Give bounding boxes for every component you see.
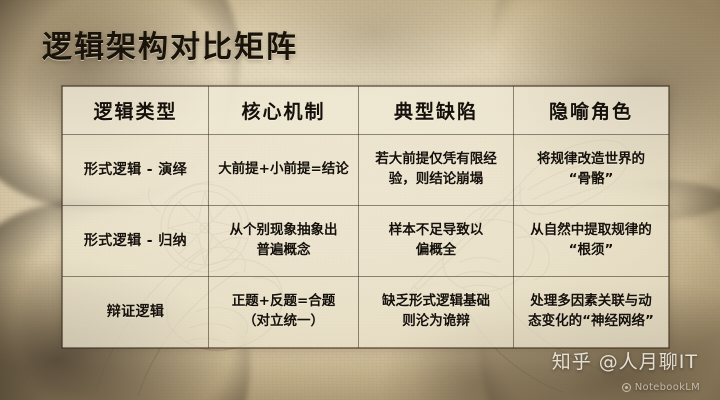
column-header-defect: 典型缺陷 — [359, 87, 514, 135]
cell-line: 大前提+小前提=结论 — [215, 160, 352, 180]
notebooklm-label: NotebookLM — [635, 382, 700, 393]
cell-line: 样本不足导致以 — [365, 221, 507, 241]
cell-defect: 样本不足导致以 偏概全 — [359, 206, 514, 277]
cell-line: “根须” — [520, 241, 662, 261]
notebooklm-badge: NotebookLM — [622, 382, 700, 393]
matrix-body: 形式逻辑 - 演绎 大前提+小前提=结论 若大前提仅凭有限经 验，则结论崩塌 将… — [63, 135, 669, 348]
table-row: 形式逻辑 - 归纳 从个别现象抽象出 普遍概念 样本不足导致以 偏概全 从自然中… — [63, 206, 669, 277]
matrix-header: 逻辑类型 核心机制 典型缺陷 隐喻角色 — [63, 87, 669, 135]
cell-metaphor: 将规律改造世界的 “骨骼” — [514, 135, 669, 206]
cell-logic-type: 形式逻辑 - 演绎 — [63, 135, 209, 206]
cell-line: 普遍概念 — [215, 241, 352, 261]
screenshot-canvas: 逻辑架构对比矩阵 逻辑类型 核心机制 典型缺陷 隐喻角色 形式逻辑 - 演绎 大… — [0, 0, 720, 400]
zhihu-watermark: 知乎 @人月聊IT — [552, 347, 698, 374]
cell-line: 处理多因素关联与动 — [520, 292, 662, 312]
cell-mechanism: 从个别现象抽象出 普遍概念 — [209, 206, 359, 277]
cell-line: 若大前提仅凭有限经 — [365, 150, 507, 170]
cell-logic-type: 形式逻辑 - 归纳 — [63, 206, 209, 277]
cell-mechanism: 大前提+小前提=结论 — [209, 135, 359, 206]
page-title: 逻辑架构对比矩阵 — [42, 22, 298, 66]
cell-line: 从自然中提取规律的 — [520, 221, 662, 241]
cell-logic-type: 辩证逻辑 — [63, 277, 209, 348]
notebooklm-logo-icon — [622, 383, 631, 392]
cell-defect: 缺乏形式逻辑基础 则沦为诡辩 — [359, 277, 514, 348]
cell-line: 偏概全 — [365, 241, 507, 261]
cell-line: 从个别现象抽象出 — [215, 221, 352, 241]
cell-line: （对立统一） — [215, 312, 352, 332]
cell-line: 缺乏形式逻辑基础 — [365, 292, 507, 312]
logic-comparison-matrix: 逻辑类型 核心机制 典型缺陷 隐喻角色 形式逻辑 - 演绎 大前提+小前提=结论… — [62, 86, 669, 348]
column-header-metaphor: 隐喻角色 — [514, 87, 669, 135]
cell-metaphor: 从自然中提取规律的 “根须” — [514, 206, 669, 277]
cell-defect: 若大前提仅凭有限经 验，则结论崩塌 — [359, 135, 514, 206]
cell-line: 验，则结论崩塌 — [365, 170, 507, 190]
matrix-header-row: 逻辑类型 核心机制 典型缺陷 隐喻角色 — [63, 87, 669, 135]
table-row: 辩证逻辑 正题+反题=合题 （对立统一） 缺乏形式逻辑基础 则沦为诡辩 处理多因… — [63, 277, 669, 348]
cell-line: 则沦为诡辩 — [365, 312, 507, 332]
cell-line: 将规律改造世界的 — [520, 150, 662, 170]
cell-metaphor: 处理多因素关联与动 态变化的“神经网络” — [514, 277, 669, 348]
cell-mechanism: 正题+反题=合题 （对立统一） — [209, 277, 359, 348]
cell-line: 正题+反题=合题 — [215, 292, 352, 312]
cell-line: “骨骼” — [520, 170, 662, 190]
cell-line: 态变化的“神经网络” — [520, 312, 662, 332]
table-row: 形式逻辑 - 演绎 大前提+小前提=结论 若大前提仅凭有限经 验，则结论崩塌 将… — [63, 135, 669, 206]
column-header-mechanism: 核心机制 — [209, 87, 359, 135]
column-header-logic-type: 逻辑类型 — [63, 87, 209, 135]
